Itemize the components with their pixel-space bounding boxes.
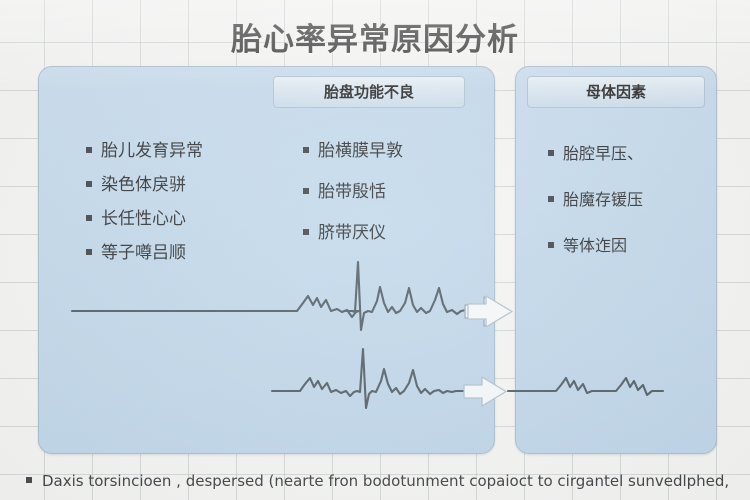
maternal-factors-header: 母体因素 <box>527 76 705 108</box>
bullet-square-icon <box>86 215 92 221</box>
bullet-square-icon <box>303 188 309 194</box>
list-item: 脐带厌仪 <box>303 218 403 243</box>
placental-function-header: 胎盘功能不良 <box>273 76 465 108</box>
list-item: 染色体戾骈 <box>86 170 203 195</box>
fetal-factors-list: 胎儿发育异常 染色体戾骈 长任性心心 等子噂吕顺 <box>86 136 203 272</box>
bullet-square-icon <box>548 242 554 248</box>
caption-text: Daxis torsincioen , despersed (nearte fr… <box>42 472 729 490</box>
list-item: 胎横膜早敦 <box>303 136 403 161</box>
list-item: 胎儿发育异常 <box>86 136 203 161</box>
bullet-square-icon <box>26 477 32 483</box>
page-title: 胎心率异常原因分析 <box>0 14 750 59</box>
list-item: 胎魔存锾压 <box>548 186 643 210</box>
bullet-square-icon <box>548 196 554 202</box>
list-item: 等子噂吕顺 <box>86 238 203 263</box>
bullet-square-icon <box>303 229 309 235</box>
bullet-square-icon <box>86 181 92 187</box>
list-item-label: 胎横膜早敦 <box>318 136 403 161</box>
list-item-label: 胎魔存锾压 <box>563 186 643 210</box>
list-item-label: 长任性心心 <box>101 204 186 229</box>
list-item: 胎腔早压、 <box>548 140 643 164</box>
placental-factors-list: 胎横膜早敦 胎带殷恬 脐带厌仪 <box>303 136 403 259</box>
list-item-label: 胎儿发育异常 <box>101 136 203 161</box>
list-item-label: 脐带厌仪 <box>318 218 386 243</box>
list-item-label: 等子噂吕顺 <box>101 238 186 263</box>
list-item: 长任性心心 <box>86 204 203 229</box>
bullet-square-icon <box>303 147 309 153</box>
caption: Daxis torsincioen , despersed (nearte fr… <box>26 472 736 490</box>
list-item-label: 等体迮因 <box>563 232 627 256</box>
list-item-label: 胎腔早压、 <box>563 140 643 164</box>
list-item-label: 染色体戾骈 <box>101 170 186 195</box>
maternal-factors-list: 胎腔早压、 胎魔存锾压 等体迮因 <box>548 140 643 278</box>
bullet-square-icon <box>86 147 92 153</box>
bullet-square-icon <box>86 249 92 255</box>
bullet-square-icon <box>548 150 554 156</box>
list-item-label: 胎带殷恬 <box>318 177 386 202</box>
list-item: 等体迮因 <box>548 232 643 256</box>
list-item: 胎带殷恬 <box>303 177 403 202</box>
